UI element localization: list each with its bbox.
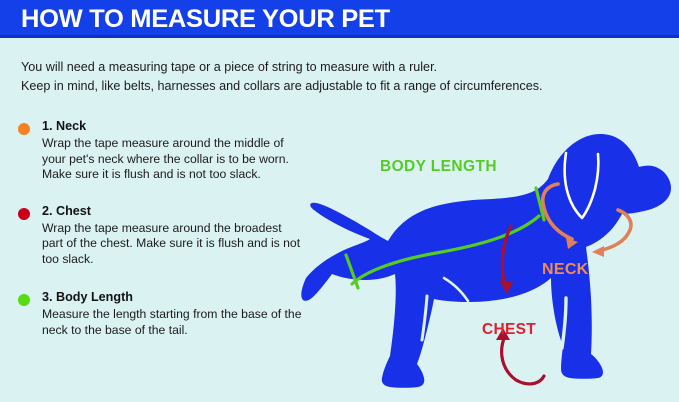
measurement-title-chest: 2. Chest xyxy=(42,203,297,220)
intro-line-1: You will need a measuring tape or a piec… xyxy=(21,58,661,77)
bullet-chest-icon xyxy=(18,208,30,220)
measurement-title-neck: 1. Neck xyxy=(42,118,297,135)
chest-label: CHEST xyxy=(482,321,536,338)
body-length-label: BODY LENGTH xyxy=(380,158,497,175)
dog-diagram: BODY LENGTH NECK CHEST xyxy=(296,96,679,402)
header-banner: HOW TO MEASURE YOUR PET xyxy=(0,0,679,38)
bullet-body-length-icon xyxy=(18,294,30,306)
bullet-neck-icon xyxy=(18,123,30,135)
infographic-page: HOW TO MEASURE YOUR PET You will need a … xyxy=(0,0,679,402)
page-title: HOW TO MEASURE YOUR PET xyxy=(21,5,390,33)
measurement-description-chest: Wrap the tape measure around the broades… xyxy=(42,221,304,268)
intro-line-2: Keep in mind, like belts, harnesses and … xyxy=(21,77,661,96)
measurement-list: 1. Neck Wrap the tape measure around the… xyxy=(17,118,297,355)
measurement-description-body-length: Measure the length starting from the bas… xyxy=(42,307,304,338)
measurement-description-neck: Wrap the tape measure around the middle … xyxy=(42,136,304,183)
measurement-title-body-length: 3. Body Length xyxy=(42,289,297,306)
measurement-item-neck: 1. Neck Wrap the tape measure around the… xyxy=(17,118,297,183)
measurement-item-chest: 2. Chest Wrap the tape measure around th… xyxy=(17,203,297,268)
measurement-item-body-length: 3. Body Length Measure the length starti… xyxy=(17,289,297,338)
intro-paragraph: You will need a measuring tape or a piec… xyxy=(21,58,661,96)
neck-label: NECK xyxy=(542,261,589,278)
